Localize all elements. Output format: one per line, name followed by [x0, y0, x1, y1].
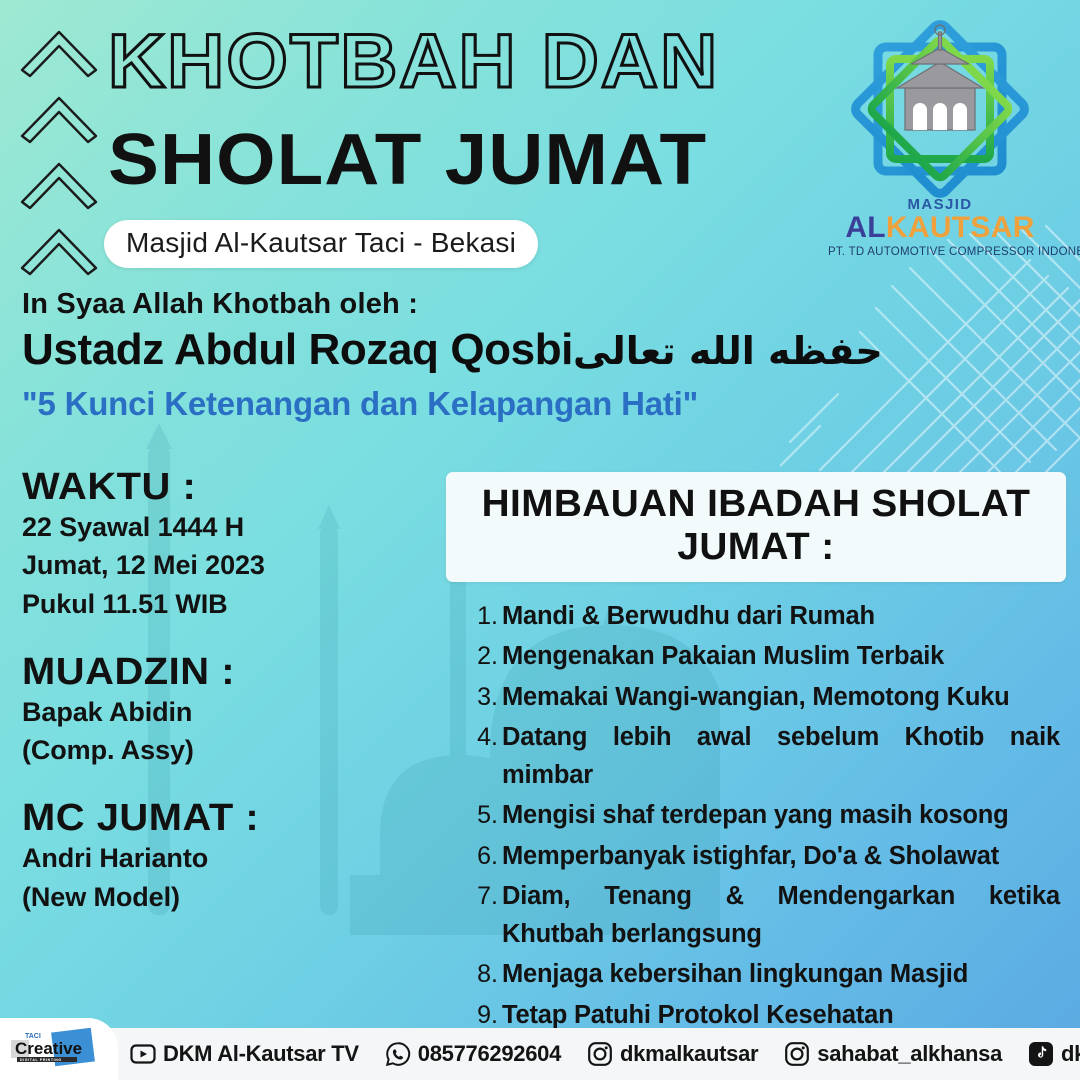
footer-bar: DKM Al-Kautsar TV 085776292604 dkmalkaut…	[0, 1028, 1080, 1080]
event-info-column: WAKTU : 22 Syawal 1444 H Jumat, 12 Mei 2…	[22, 468, 422, 946]
info-line: (Comp. Assy)	[22, 731, 422, 769]
svg-text:DIGITAL PRINTING: DIGITAL PRINTING	[20, 1058, 62, 1062]
guidance-panel: HIMBAUAN IBADAH SHOLAT JUMAT : 1. Mandi …	[452, 472, 1060, 1037]
list-item: 2. Mengenakan Pakaian Muslim Terbaik	[474, 638, 1060, 675]
contact-tiktok[interactable]: dkm_alkautsar	[1028, 1041, 1080, 1067]
list-item-label: Memperbanyak istighfar, Do'a & Sholawat	[502, 838, 1060, 875]
speaker-name: Ustadz Abdul Rozaq Qosbi	[22, 325, 573, 374]
taci-creative-logo: TACI Creative DIGITAL PRINTING	[9, 1026, 109, 1072]
info-line: Pukul 11.51 WIB	[22, 585, 422, 623]
venue-badge: Masjid Al-Kautsar Taci - Bekasi	[104, 220, 538, 268]
tiktok-icon	[1028, 1041, 1054, 1067]
speaker-section: In Syaa Allah Khotbah oleh : Ustadz Abdu…	[22, 288, 922, 423]
logo-company-label: PT. TD AUTOMOTIVE COMPRESSOR INDONESIA	[828, 246, 1052, 258]
contact-instagram-sahabat[interactable]: sahabat_alkhansa	[784, 1041, 1002, 1067]
masjid-logo: MASJID ALKAUTSAR PT. TD AUTOMOTIVE COMPR…	[828, 18, 1052, 258]
info-heading: WAKTU :	[22, 468, 442, 508]
list-item-label: Mandi & Berwudhu dari Rumah	[502, 598, 1060, 635]
list-item-label: Mengisi shaf terdepan yang masih kosong	[502, 797, 1060, 834]
whatsapp-icon	[385, 1041, 411, 1067]
list-item-number: 6.	[474, 838, 502, 875]
svg-text:Creative: Creative	[15, 1039, 82, 1058]
info-heading: MC JUMAT :	[22, 799, 442, 839]
guidance-list: 1. Mandi & Berwudhu dari Rumah 2. Mengen…	[452, 598, 1060, 1034]
info-line: Jumat, 12 Mei 2023	[22, 546, 422, 584]
contact-instagram-dkm[interactable]: dkmalkautsar	[587, 1041, 758, 1067]
contact-whatsapp[interactable]: 085776292604	[385, 1041, 561, 1067]
logo-name: ALKAUTSAR	[828, 213, 1052, 243]
contact-youtube[interactable]: DKM Al-Kautsar TV	[130, 1041, 359, 1067]
info-block-mc-jumat: MC JUMAT : Andri Harianto (New Model)	[22, 799, 422, 916]
contact-label: 085776292604	[418, 1041, 561, 1067]
speaker-topic: "5 Kunci Ketenangan dan Kelapangan Hati"	[22, 385, 922, 423]
info-block-muadzin: MUADZIN : Bapak Abidin (Comp. Assy)	[22, 653, 422, 770]
list-item-label: Datang lebih awal sebelum Khotib naik mi…	[502, 719, 1060, 794]
speaker-arabic-honorific: حفظه الله تعالى	[573, 329, 883, 373]
speaker-name-row: Ustadz Abdul Rozaq Qosbiحفظه الله تعالى	[22, 325, 922, 375]
social-contacts: DKM Al-Kautsar TV 085776292604 dkmalkaut…	[130, 1041, 1080, 1067]
list-item: 8. Menjaga kebersihan lingkungan Masjid	[474, 956, 1060, 993]
panel-heading: HIMBAUAN IBADAH SHOLAT JUMAT :	[446, 472, 1066, 582]
list-item-label: Memakai Wangi-wangian, Memotong Kuku	[502, 679, 1060, 716]
page-title-line1: KHOTBAH DAN	[108, 24, 719, 100]
info-line: Bapak Abidin	[22, 693, 422, 731]
list-item-number: 4.	[474, 719, 502, 756]
list-item-number: 7.	[474, 878, 502, 915]
list-item: 4. Datang lebih awal sebelum Khotib naik…	[474, 719, 1060, 794]
page-title-line2: SHOLAT JUMAT	[108, 124, 707, 196]
info-block-waktu: WAKTU : 22 Syawal 1444 H Jumat, 12 Mei 2…	[22, 468, 422, 623]
list-item-number: 3.	[474, 679, 502, 716]
logo-name-kautsar: KAUTSAR	[886, 211, 1035, 244]
youtube-icon	[130, 1041, 156, 1067]
list-item: 3. Memakai Wangi-wangian, Memotong Kuku	[474, 679, 1060, 716]
logo-name-al: AL	[845, 211, 886, 244]
contact-label: dkmalkautsar	[620, 1041, 758, 1067]
list-item: 6. Memperbanyak istighfar, Do'a & Sholaw…	[474, 838, 1060, 875]
list-item-number: 2.	[474, 638, 502, 675]
speaker-lead-text: In Syaa Allah Khotbah oleh :	[22, 288, 922, 321]
list-item: 7. Diam, Tenang & Mendengarkan ketika Kh…	[474, 878, 1060, 953]
info-line: 22 Syawal 1444 H	[22, 508, 422, 546]
list-item-label: Diam, Tenang & Mendengarkan ketika Khutb…	[502, 878, 1060, 953]
contact-label: dkm_alkautsar	[1061, 1041, 1080, 1067]
list-item: 5. Mengisi shaf terdepan yang masih koso…	[474, 797, 1060, 834]
instagram-icon	[784, 1041, 810, 1067]
list-item: 1. Mandi & Berwudhu dari Rumah	[474, 598, 1060, 635]
list-item-number: 1.	[474, 598, 502, 635]
contact-label: DKM Al-Kautsar TV	[163, 1041, 359, 1067]
info-line: Andri Harianto	[22, 839, 422, 877]
instagram-icon	[587, 1041, 613, 1067]
list-item-label: Mengenakan Pakaian Muslim Terbaik	[502, 638, 1060, 675]
list-item-number: 8.	[474, 956, 502, 993]
contact-label: sahabat_alkhansa	[817, 1041, 1002, 1067]
list-item-label: Menjaga kebersihan lingkungan Masjid	[502, 956, 1060, 993]
info-heading: MUADZIN :	[22, 653, 442, 693]
mosque-star-icon	[849, 18, 1031, 200]
list-item-number: 5.	[474, 797, 502, 834]
creative-studio-badge: TACI Creative DIGITAL PRINTING	[0, 1018, 118, 1080]
info-line: (New Model)	[22, 878, 422, 916]
